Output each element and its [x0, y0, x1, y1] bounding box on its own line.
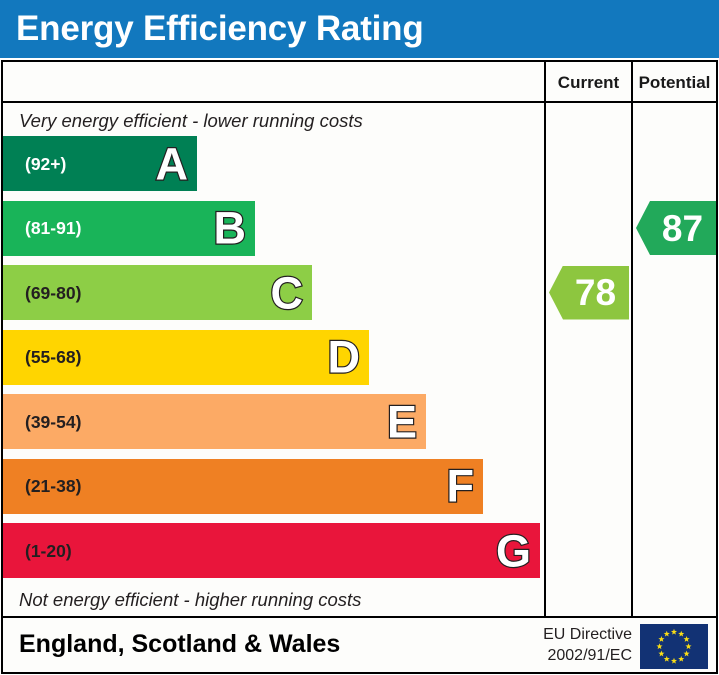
rating-value-potential: 87	[649, 210, 703, 247]
title-bar: Energy Efficiency Rating	[0, 0, 719, 58]
band-letter-d: D	[328, 335, 361, 380]
band-range-g: (1-20)	[25, 541, 72, 561]
band-range-d: (55-68)	[25, 347, 81, 367]
band-letter-g: G	[496, 528, 531, 573]
band-letter-e: E	[387, 399, 417, 444]
band-letter-f: F	[447, 464, 475, 509]
band-range-c: (69-80)	[25, 283, 81, 303]
caption-inefficient: Not energy efficient - higher running co…	[19, 589, 361, 611]
eu-directive-line1: EU Directive	[543, 626, 632, 643]
eu-directive-label: EU Directive 2002/91/EC	[522, 624, 632, 666]
page-title: Energy Efficiency Rating	[16, 8, 424, 50]
column-divider-potential	[631, 62, 633, 616]
footer-row: England, Scotland & Wales EU Directive 2…	[3, 618, 716, 672]
band-range-e: (39-54)	[25, 412, 81, 432]
region-label: England, Scotland & Wales	[19, 629, 340, 659]
eu-flag-icon	[640, 624, 708, 669]
caption-efficient: Very energy efficient - lower running co…	[19, 110, 363, 132]
band-bar-e: (39-54)E	[3, 394, 426, 449]
header-divider	[3, 101, 716, 103]
band-bar-a: (92+)A	[3, 136, 197, 191]
column-header-potential: Potential	[633, 72, 716, 96]
energy-efficiency-rating-chart: Energy Efficiency Rating Current Potenti…	[0, 0, 719, 675]
band-bar-c: (69-80)C	[3, 265, 312, 320]
band-bar-d: (55-68)D	[3, 330, 369, 385]
column-divider-current	[544, 62, 546, 616]
column-header-current: Current	[546, 72, 631, 96]
eu-directive-line2: 2002/91/EC	[547, 647, 632, 664]
rating-badge-current: 78	[549, 266, 629, 320]
rating-value-current: 78	[562, 274, 616, 311]
band-letter-c: C	[271, 270, 304, 315]
band-range-f: (21-38)	[25, 476, 81, 496]
band-range-a: (92+)	[25, 154, 66, 174]
band-bar-b: (81-91)B	[3, 201, 255, 256]
band-letter-b: B	[214, 206, 247, 251]
band-range-b: (81-91)	[25, 218, 81, 238]
eu-stars	[640, 624, 708, 669]
band-bar-f: (21-38)F	[3, 459, 483, 514]
rating-badge-potential: 87	[636, 201, 716, 255]
band-letter-a: A	[156, 141, 189, 186]
band-bar-g: (1-20)G	[3, 523, 540, 578]
band-bars: (92+)A(81-91)B(69-80)C(55-68)D(39-54)E(2…	[3, 136, 544, 588]
rating-table: Current Potential Very energy efficient …	[1, 60, 718, 674]
